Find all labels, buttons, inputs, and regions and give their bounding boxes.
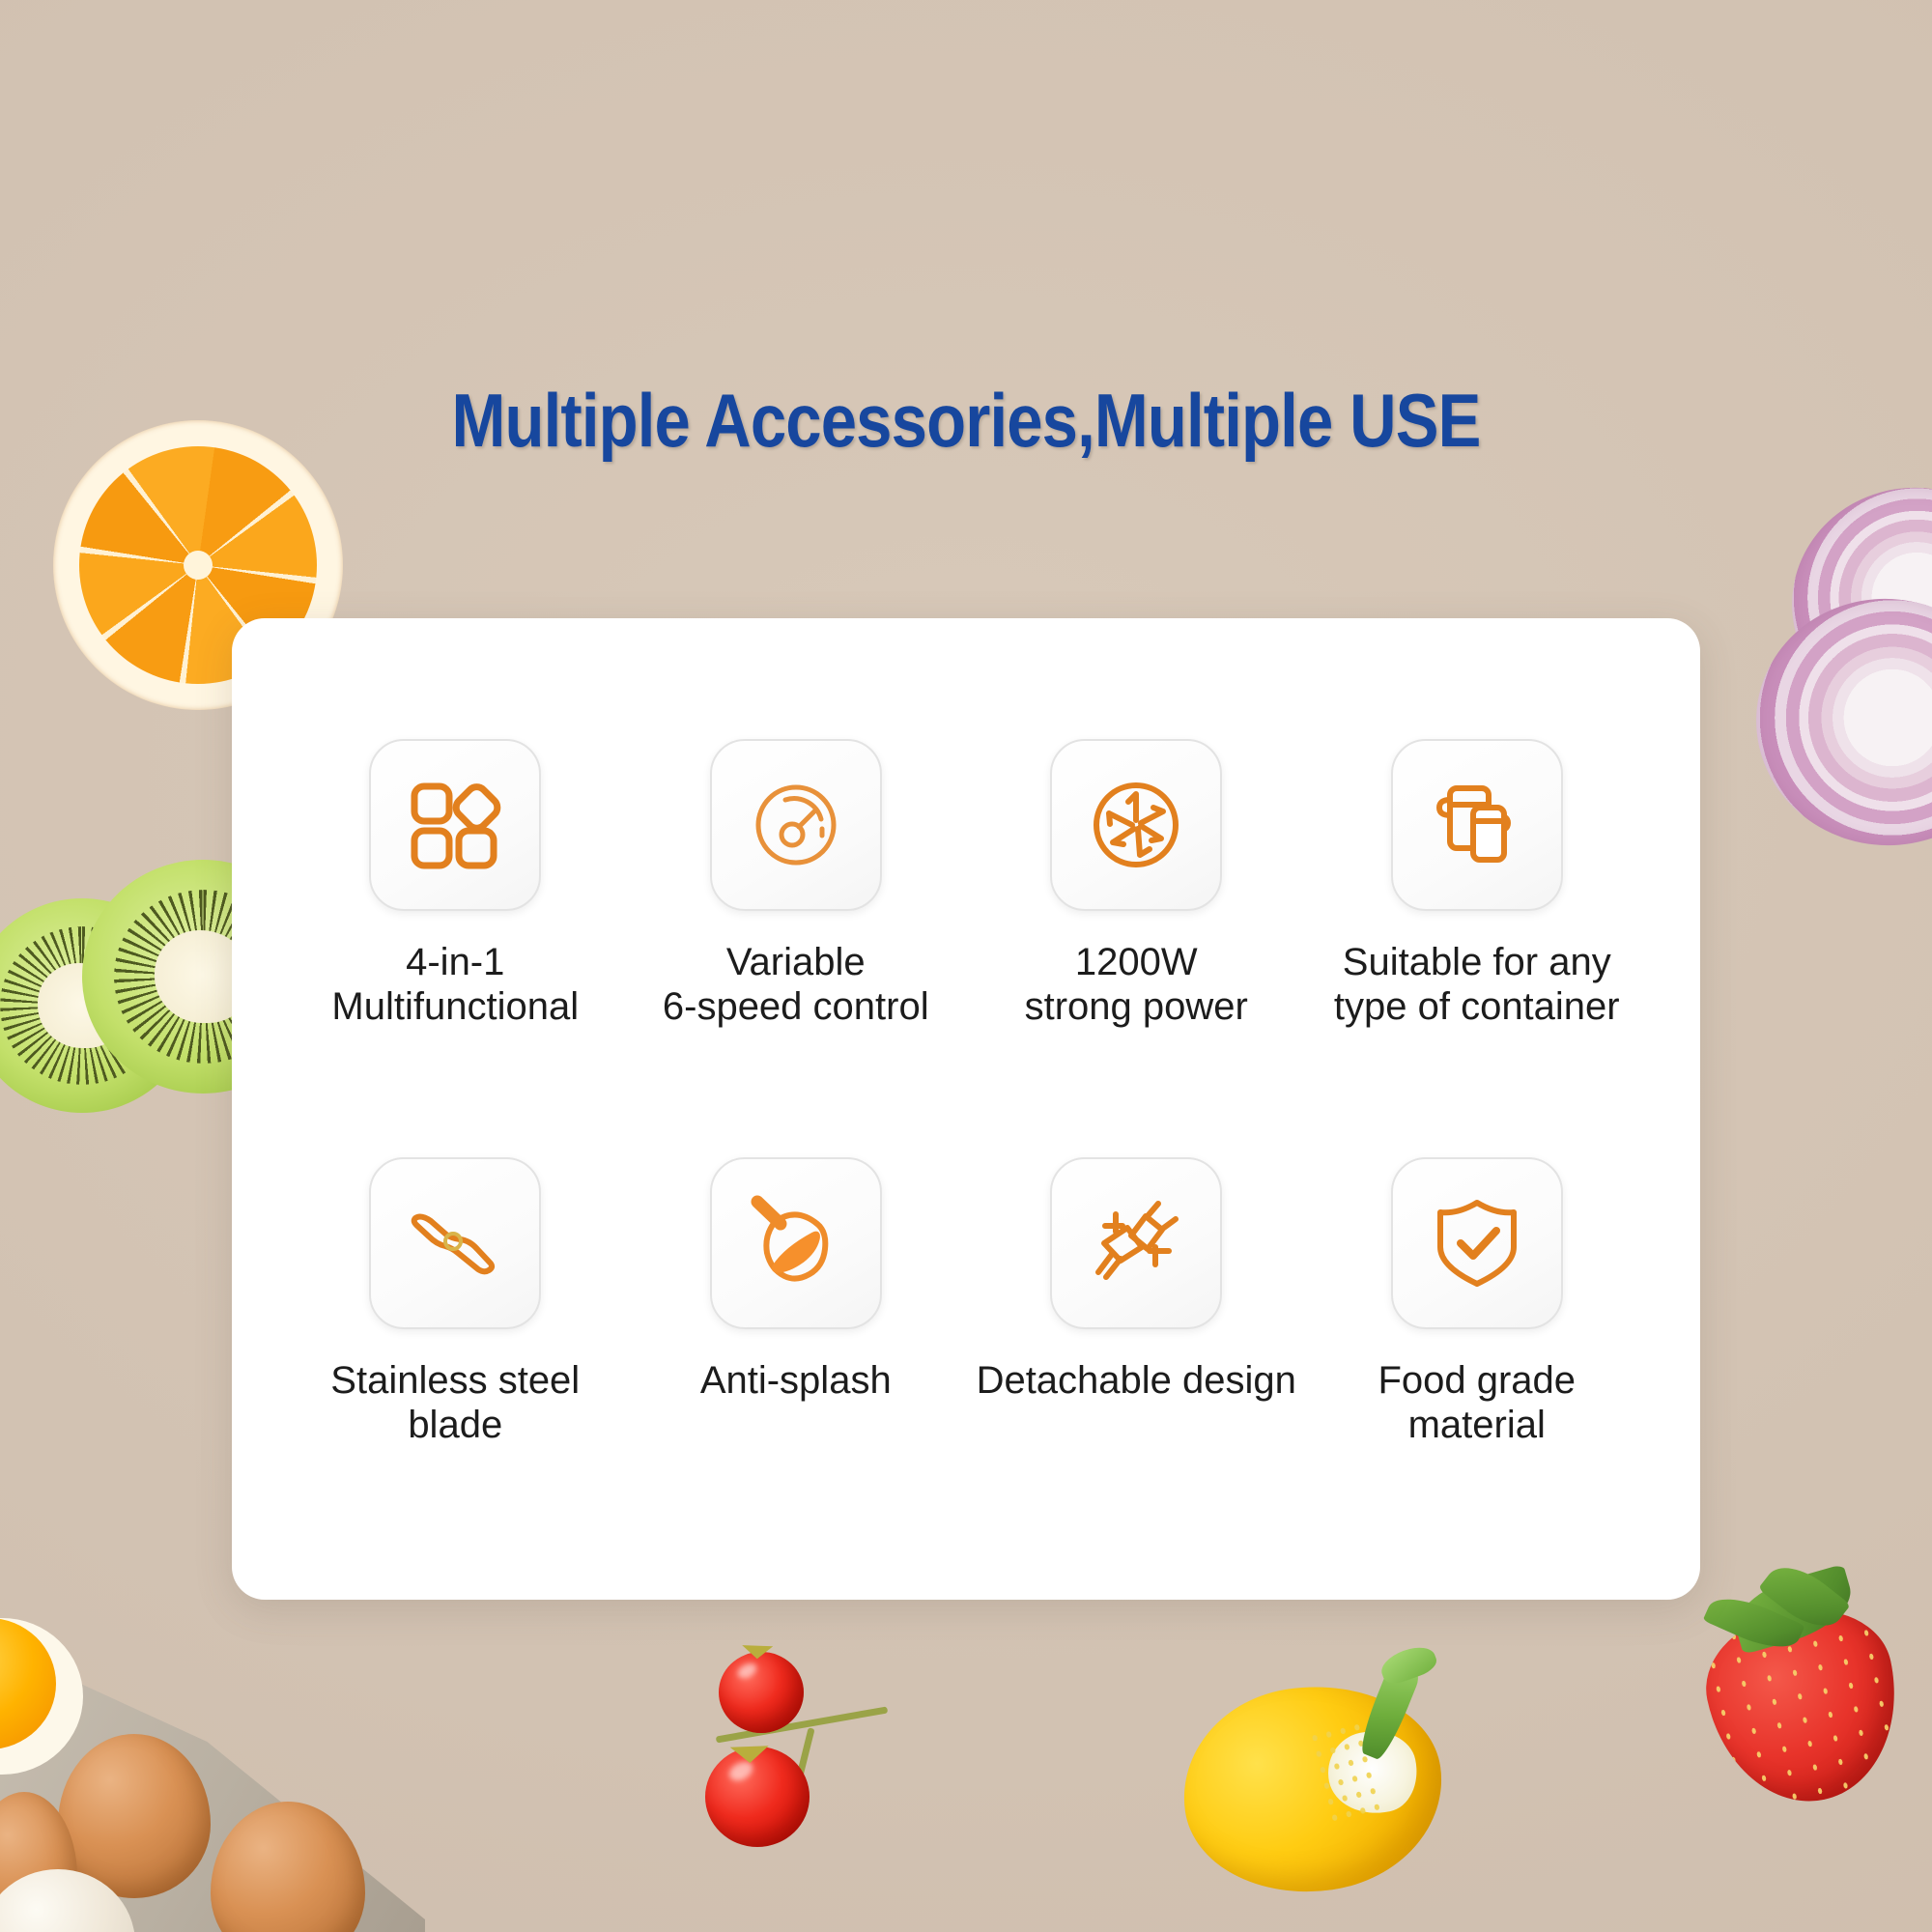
feature-item-container[interactable]: Suitable for any type of container [1307,739,1648,1030]
two-containers-icon [1391,739,1563,911]
shield-check-icon [1391,1157,1563,1329]
egg-carton-image [0,1579,425,1932]
feature-label: Food grade material [1307,1358,1648,1448]
feature-item-speed-control[interactable]: Variable 6-speed control [626,739,967,1030]
blade-icon [369,1157,541,1329]
feature-item-anti-splash[interactable]: Anti-splash [626,1157,967,1448]
speed-gauge-icon [710,739,882,911]
feature-item-food-grade[interactable]: Food grade material [1307,1157,1648,1448]
anti-splash-guard-icon [710,1157,882,1329]
cherry-tomatoes-image [696,1642,1005,1932]
infographic-page: Multiple Accessories,Multiple USE 4-in-1… [0,0,1932,1932]
cherry-tomato [719,1652,804,1733]
feature-item-blade[interactable]: Stainless steel blade [285,1157,626,1448]
feature-label: Anti-splash [700,1358,892,1403]
feature-item-detachable[interactable]: Detachable design [966,1157,1307,1448]
feature-label: Stainless steel blade [285,1358,626,1448]
feature-card: 4-in-1 Multifunctional Variable 6-speed … [232,618,1700,1600]
feature-item-multifunctional[interactable]: 4-in-1 Multifunctional [285,739,626,1030]
feature-label: 1200W strong power [1025,940,1248,1030]
page-title: Multiple Accessories,Multiple USE [135,377,1797,465]
feature-label: Detachable design [977,1358,1296,1403]
turbine-fan-power-icon [1050,739,1222,911]
feature-label: Suitable for any type of container [1334,940,1620,1030]
feature-item-power[interactable]: 1200W strong power [966,739,1307,1030]
four-squares-grid-icon [369,739,541,911]
yellow-bell-pepper-image [1183,1652,1473,1932]
feature-label: 4-in-1 Multifunctional [331,940,579,1030]
strawberry-image [1700,1575,1908,1806]
orange-core [184,551,213,580]
feature-label: Variable 6-speed control [663,940,929,1030]
feature-grid: 4-in-1 Multifunctional Variable 6-speed … [285,739,1647,1448]
tomato-calyx [742,1645,773,1660]
tomato-calyx [730,1746,770,1763]
detachable-plug-icon [1050,1157,1222,1329]
